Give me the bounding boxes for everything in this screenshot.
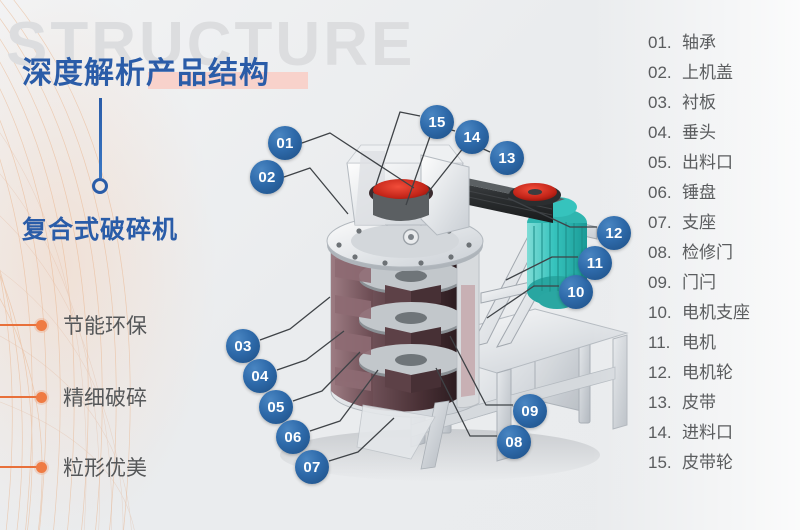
- feature-bullet-icon: [36, 392, 47, 403]
- legend-number: 13.: [648, 393, 682, 413]
- legend-number: 03.: [648, 93, 682, 113]
- feature-item-0: 节能环保: [0, 310, 147, 340]
- legend-number: 12.: [648, 363, 682, 383]
- page-title: 深度解析产品结构: [22, 48, 270, 92]
- headline-group: 深度解析产品结构: [22, 48, 270, 92]
- callout-badge-05[interactable]: 05: [259, 390, 293, 424]
- legend-label: 轴承: [682, 28, 716, 53]
- legend-label: 皮带: [682, 388, 716, 413]
- parts-legend: 01. 轴承 02. 上机盖 03. 衬板 04. 垂头 05. 出料口 06.…: [648, 28, 750, 478]
- callout-badge-07[interactable]: 07: [295, 450, 329, 484]
- callout-badge-15[interactable]: 15: [420, 105, 454, 139]
- callout-badge-10[interactable]: 10: [559, 275, 593, 309]
- legend-label: 门闩: [682, 268, 716, 293]
- legend-item-01: 01. 轴承: [648, 28, 750, 58]
- legend-item-15: 15. 皮带轮: [648, 448, 750, 478]
- legend-item-06: 06. 锤盘: [648, 178, 750, 208]
- callout-badge-12[interactable]: 12: [597, 216, 631, 250]
- legend-number: 10.: [648, 303, 682, 323]
- legend-number: 02.: [648, 63, 682, 83]
- legend-label: 检修门: [682, 238, 733, 263]
- legend-label: 锤盘: [682, 178, 716, 203]
- callout-badge-14[interactable]: 14: [455, 120, 489, 154]
- legend-item-02: 02. 上机盖: [648, 58, 750, 88]
- legend-number: 04.: [648, 123, 682, 143]
- pin-circle-icon: [92, 178, 108, 194]
- legend-number: 06.: [648, 183, 682, 203]
- callout-badge-11[interactable]: 11: [578, 246, 612, 280]
- callout-badge-01[interactable]: 01: [268, 126, 302, 160]
- callout-badge-02[interactable]: 02: [250, 160, 284, 194]
- feature-connector-line: [0, 466, 38, 468]
- callout-badge-03[interactable]: 03: [226, 329, 260, 363]
- legend-item-11: 11. 电机: [648, 328, 750, 358]
- product-name: 复合式破碎机: [22, 210, 178, 246]
- legend-number: 14.: [648, 423, 682, 443]
- legend-number: 15.: [648, 453, 682, 473]
- legend-number: 07.: [648, 213, 682, 233]
- feature-bullet-icon: [36, 462, 47, 473]
- legend-number: 01.: [648, 33, 682, 53]
- structure-infographic: STRUCTURE 深度解析产品结构 复合式破碎机 节能环保 精细破碎 粒形优美: [0, 0, 800, 530]
- feature-item-1: 精细破碎: [0, 382, 147, 412]
- legend-item-09: 09. 门闩: [648, 268, 750, 298]
- callout-badge-08[interactable]: 08: [497, 425, 531, 459]
- legend-label: 电机: [682, 328, 716, 353]
- callout-badge-09[interactable]: 09: [513, 394, 547, 428]
- legend-label: 支座: [682, 208, 716, 233]
- legend-label: 垂头: [682, 118, 716, 143]
- pin-connector-line: [99, 98, 102, 178]
- legend-number: 08.: [648, 243, 682, 263]
- callout-badge-13[interactable]: 13: [490, 141, 524, 175]
- legend-label: 上机盖: [682, 58, 733, 83]
- legend-number: 05.: [648, 153, 682, 173]
- feature-item-2: 粒形优美: [0, 452, 147, 482]
- feature-label: 节能环保: [63, 310, 147, 340]
- legend-item-10: 10. 电机支座: [648, 298, 750, 328]
- legend-item-05: 05. 出料口: [648, 148, 750, 178]
- legend-item-03: 03. 衬板: [648, 88, 750, 118]
- legend-number: 11.: [648, 333, 682, 353]
- legend-item-12: 12. 电机轮: [648, 358, 750, 388]
- legend-item-04: 04. 垂头: [648, 118, 750, 148]
- feature-label: 精细破碎: [63, 382, 147, 412]
- legend-item-14: 14. 进料口: [648, 418, 750, 448]
- legend-item-07: 07. 支座: [648, 208, 750, 238]
- legend-number: 09.: [648, 273, 682, 293]
- feature-bullet-icon: [36, 320, 47, 331]
- callout-badge-06[interactable]: 06: [276, 420, 310, 454]
- legend-label: 电机支座: [682, 298, 750, 323]
- legend-item-13: 13. 皮带: [648, 388, 750, 418]
- feature-connector-line: [0, 324, 38, 326]
- feature-label: 粒形优美: [63, 452, 147, 482]
- legend-label: 出料口: [682, 148, 733, 173]
- legend-label: 衬板: [682, 88, 716, 113]
- legend-label: 电机轮: [682, 358, 733, 383]
- legend-label: 皮带轮: [682, 448, 733, 473]
- callout-badge-04[interactable]: 04: [243, 359, 277, 393]
- feature-connector-line: [0, 396, 38, 398]
- legend-item-08: 08. 检修门: [648, 238, 750, 268]
- legend-label: 进料口: [682, 418, 733, 443]
